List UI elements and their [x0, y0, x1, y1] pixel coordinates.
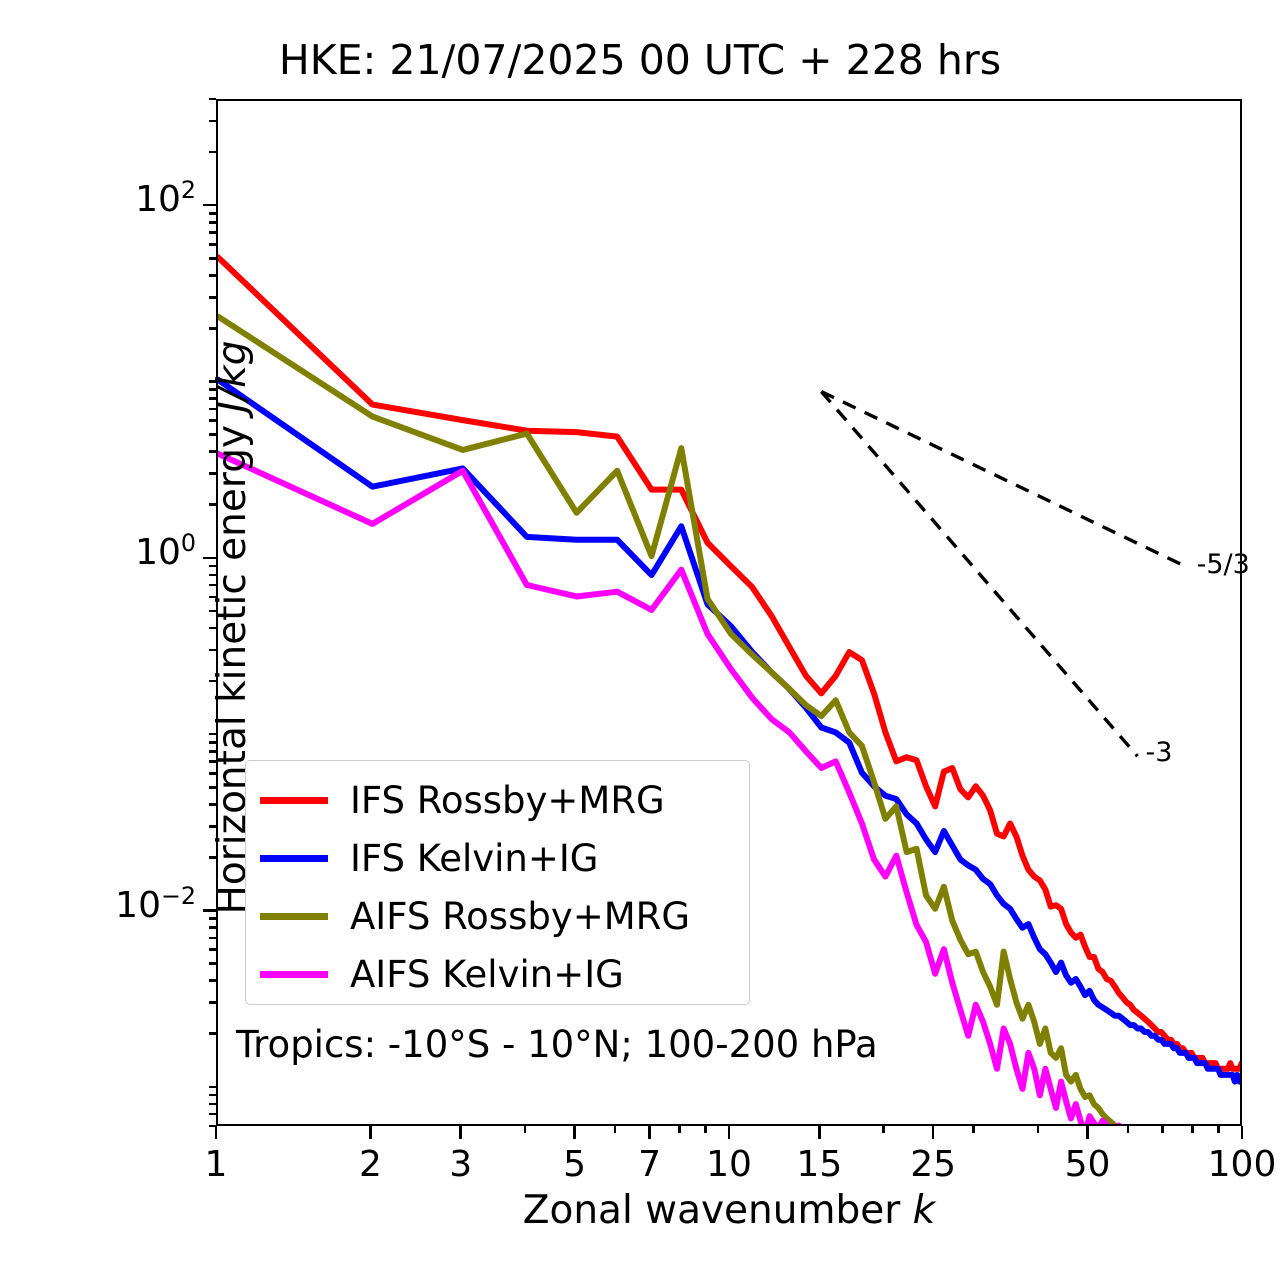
- legend-label-2: AIFS Rossby+MRG: [350, 898, 690, 935]
- x-tick-mark: [1086, 1126, 1089, 1139]
- legend-label-3: AIFS Kelvin+IG: [350, 956, 624, 993]
- legend-item-0[interactable]: IFS Rossby+MRG: [260, 771, 665, 829]
- x-tick-mark: [1161, 1126, 1164, 1133]
- legend[interactable]: IFS Rossby+MRGIFS Kelvin+IGAIFS Rossby+M…: [245, 760, 750, 1005]
- legend-swatch-3: [260, 971, 328, 978]
- x-tick-mark: [1191, 1126, 1194, 1133]
- legend-swatch-0: [260, 797, 328, 804]
- x-tick-label-7: 25: [873, 1144, 993, 1185]
- y-axis-label-unit: J/kg: [210, 341, 255, 413]
- legend-item-2[interactable]: AIFS Rossby+MRG: [260, 887, 690, 945]
- x-axis-label-text: Zonal wavenumber: [523, 1188, 913, 1233]
- x-tick-mark: [614, 1126, 617, 1133]
- region-annotation: Tropics: -10°S - 10°N; 100-200 hPa: [236, 1023, 878, 1066]
- x-tick-mark: [1127, 1126, 1130, 1133]
- y-tick-mark: [209, 98, 216, 101]
- x-tick-mark: [1241, 1126, 1244, 1139]
- x-axis-label: Zonal wavenumber k: [216, 1188, 1242, 1233]
- legend-item-1[interactable]: IFS Kelvin+IG: [260, 829, 598, 887]
- slope-label-1: -3: [1145, 737, 1172, 768]
- x-tick-mark: [972, 1126, 975, 1133]
- slope-label-0: -5/3: [1197, 549, 1250, 580]
- x-tick-mark: [369, 1126, 372, 1139]
- x-tick-label-0: 1: [156, 1144, 276, 1185]
- x-tick-mark: [882, 1126, 885, 1133]
- x-tick-mark: [573, 1126, 576, 1139]
- x-tick-mark: [678, 1126, 681, 1133]
- x-tick-mark: [524, 1126, 527, 1133]
- x-tick-mark: [818, 1126, 821, 1139]
- legend-swatch-1: [260, 855, 328, 862]
- x-tick-mark: [704, 1126, 707, 1133]
- chart-figure: HKE: 21/07/2025 00 UTC + 228 hrs 1021001…: [0, 0, 1280, 1288]
- x-tick-label-9: 100: [1182, 1144, 1280, 1185]
- legend-label-1: IFS Kelvin+IG: [350, 840, 598, 877]
- legend-item-3[interactable]: AIFS Kelvin+IG: [260, 945, 624, 1003]
- y-tick-label-2: 10−2: [6, 885, 196, 926]
- page-title: HKE: 21/07/2025 00 UTC + 228 hrs: [0, 36, 1280, 84]
- legend-label-0: IFS Rossby+MRG: [350, 782, 665, 819]
- x-tick-mark: [728, 1126, 731, 1139]
- x-tick-mark: [648, 1126, 651, 1139]
- x-tick-mark: [1037, 1126, 1040, 1133]
- x-axis-label-symbol: k: [913, 1188, 936, 1233]
- x-tick-label-6: 15: [759, 1144, 879, 1185]
- x-tick-mark: [1217, 1126, 1220, 1133]
- y-tick-label-0: 102: [6, 179, 196, 220]
- x-tick-mark: [459, 1126, 462, 1139]
- legend-swatch-2: [260, 913, 328, 920]
- x-tick-mark: [932, 1126, 935, 1139]
- y-tick-label-1: 100: [6, 532, 196, 573]
- x-tick-label-8: 50: [1028, 1144, 1148, 1185]
- x-tick-label-2: 3: [401, 1144, 521, 1185]
